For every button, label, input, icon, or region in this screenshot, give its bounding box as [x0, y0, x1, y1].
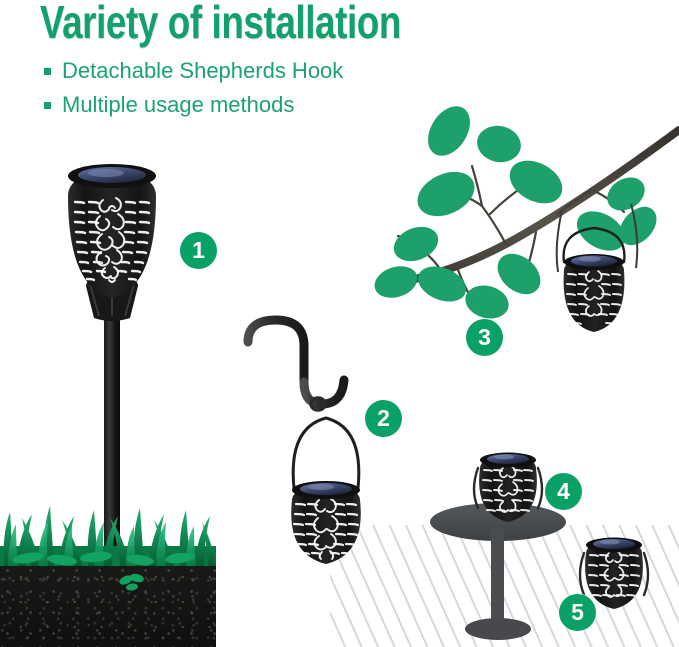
bullet-item-2: Multiple usage methods	[44, 92, 294, 118]
wire-handle	[538, 468, 542, 508]
hanging-lantern-2	[272, 404, 380, 586]
product-infographic: Variety of installation Detachable Sheph…	[0, 0, 679, 647]
bullet-label-1: Detachable Shepherds Hook	[62, 58, 343, 84]
step-badge-1[interactable]: 1	[180, 232, 217, 269]
table-base	[465, 618, 531, 640]
grass-lawn	[0, 484, 216, 566]
page-title: Variety of installation	[40, 0, 401, 48]
hook-arch	[248, 320, 304, 382]
table-leg	[491, 528, 504, 623]
soil-sprout-icon	[118, 572, 148, 594]
wire-handle	[644, 553, 648, 595]
bullet-label-2: Multiple usage methods	[62, 92, 294, 118]
step-badge-3[interactable]: 3	[466, 319, 503, 356]
bullet-item-1: Detachable Shepherds Hook	[44, 58, 343, 84]
soil-ground	[0, 559, 216, 647]
bullet-square-icon	[44, 102, 51, 109]
step-badge-5[interactable]: 5	[559, 594, 596, 631]
bullet-square-icon	[44, 68, 51, 75]
wire-handle	[474, 468, 478, 508]
wire-handle	[293, 418, 359, 488]
step-badge-2[interactable]: 2	[365, 400, 402, 437]
wire-handle	[580, 553, 584, 595]
hanging-lantern-3	[552, 228, 636, 334]
step-badge-4[interactable]: 4	[545, 473, 582, 510]
tabletop-lantern-4	[462, 446, 554, 526]
